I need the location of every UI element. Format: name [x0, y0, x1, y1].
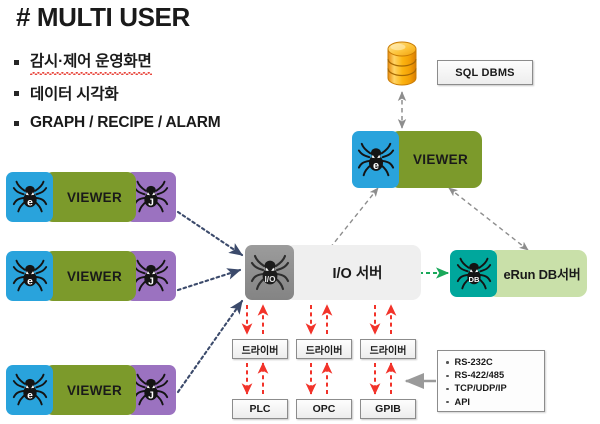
svg-text:I/O: I/O: [264, 275, 276, 284]
bullet-dot-icon: [446, 375, 449, 378]
bullet-marker-icon: [14, 60, 19, 65]
bullet-dot-icon: [446, 388, 449, 391]
bullet-item-2: GRAPH / RECIPE / ALARM: [14, 114, 221, 132]
wire-driver-0-to-device-0: [247, 363, 263, 394]
node-viewer-top[interactable]: e VIEWER: [352, 131, 482, 188]
wire-driver-1-to-device-1: [311, 363, 327, 394]
svg-text:J: J: [148, 277, 154, 288]
node-viewer-client-0[interactable]: e VIEWER: [6, 172, 136, 222]
spider-io-icon: I/O: [245, 245, 294, 300]
bullet-item-1: 데이터 시각화: [14, 82, 118, 104]
svg-text:e: e: [27, 390, 33, 401]
wire-ioserver-to-viewer: [330, 188, 378, 248]
wire-client-2-to-ioserver: [178, 270, 240, 290]
protocol-item-1: RS-422/485: [446, 369, 544, 382]
svg-text:J: J: [148, 391, 154, 402]
database-cylinder-icon: [378, 32, 426, 90]
bullet-label: GRAPH / RECIPE / ALARM: [30, 114, 221, 132]
protocol-label: RS-232C: [455, 356, 493, 369]
protocol-item-2: TCP/UDP/IP: [446, 382, 544, 395]
erun-db-server-label: eRun DB서버: [488, 250, 587, 297]
protocol-item-0: RS-232C: [446, 356, 544, 369]
wire-driver-2-to-device-2: [375, 363, 391, 394]
bullet-dot-icon: [446, 401, 449, 404]
driver-box-2[interactable]: 드라이버: [360, 339, 416, 359]
viewer-client-label: VIEWER: [44, 172, 136, 222]
device-box-gpib[interactable]: GPIB: [360, 399, 416, 419]
protocol-list: RS-232C RS-422/485 TCP/UDP/IP API: [437, 350, 545, 412]
wire-erundb-to-viewer: [449, 188, 528, 250]
bullet-label: 데이터 시각화: [30, 82, 118, 104]
protocol-label: RS-422/485: [455, 369, 505, 382]
protocol-item-3: API: [446, 396, 544, 409]
page-title: # MULTI USER: [16, 2, 190, 33]
bullet-marker-icon: [14, 91, 19, 96]
svg-text:e: e: [27, 276, 33, 287]
io-server-label: I/O 서버: [285, 245, 421, 300]
bullet-label: 감시·제어 운영화면: [30, 49, 152, 75]
device-box-opc[interactable]: OPC: [296, 399, 352, 419]
wire-ioserver-to-driver-2: [375, 305, 391, 334]
node-io-server[interactable]: I/O I/O 서버: [245, 245, 421, 300]
spider-e-icon: e: [6, 365, 53, 415]
node-viewer-client-2[interactable]: e VIEWER: [6, 365, 136, 415]
wire-ioserver-to-driver-1: [311, 305, 327, 334]
wire-client-1-to-ioserver: [178, 212, 242, 255]
viewer-top-label: VIEWER: [390, 131, 482, 188]
protocol-label: API: [455, 396, 471, 409]
viewer-client-label: VIEWER: [44, 251, 136, 301]
protocol-label: TCP/UDP/IP: [455, 382, 507, 395]
node-erun-db-server[interactable]: DB eRun DB서버: [450, 250, 587, 297]
svg-text:e: e: [27, 197, 33, 208]
sql-dbms-label: SQL DBMS: [437, 60, 533, 85]
svg-text:e: e: [372, 159, 378, 171]
driver-box-1[interactable]: 드라이버: [296, 339, 352, 359]
device-box-plc[interactable]: PLC: [232, 399, 288, 419]
spider-db-icon: DB: [450, 250, 497, 297]
svg-text:J: J: [148, 198, 154, 209]
svg-text:DB: DB: [468, 275, 479, 284]
driver-box-0[interactable]: 드라이버: [232, 339, 288, 359]
wire-ioserver-to-driver-0: [247, 305, 263, 334]
node-viewer-client-1[interactable]: e VIEWER: [6, 251, 136, 301]
bullet-dot-icon: [446, 361, 449, 364]
spider-e-icon: e: [6, 251, 53, 301]
bullet-marker-icon: [14, 121, 19, 126]
viewer-client-label: VIEWER: [44, 365, 136, 415]
spider-e-icon: e: [6, 172, 53, 222]
bullet-item-0: 감시·제어 운영화면: [14, 49, 152, 75]
spider-e-icon: e: [352, 131, 399, 188]
